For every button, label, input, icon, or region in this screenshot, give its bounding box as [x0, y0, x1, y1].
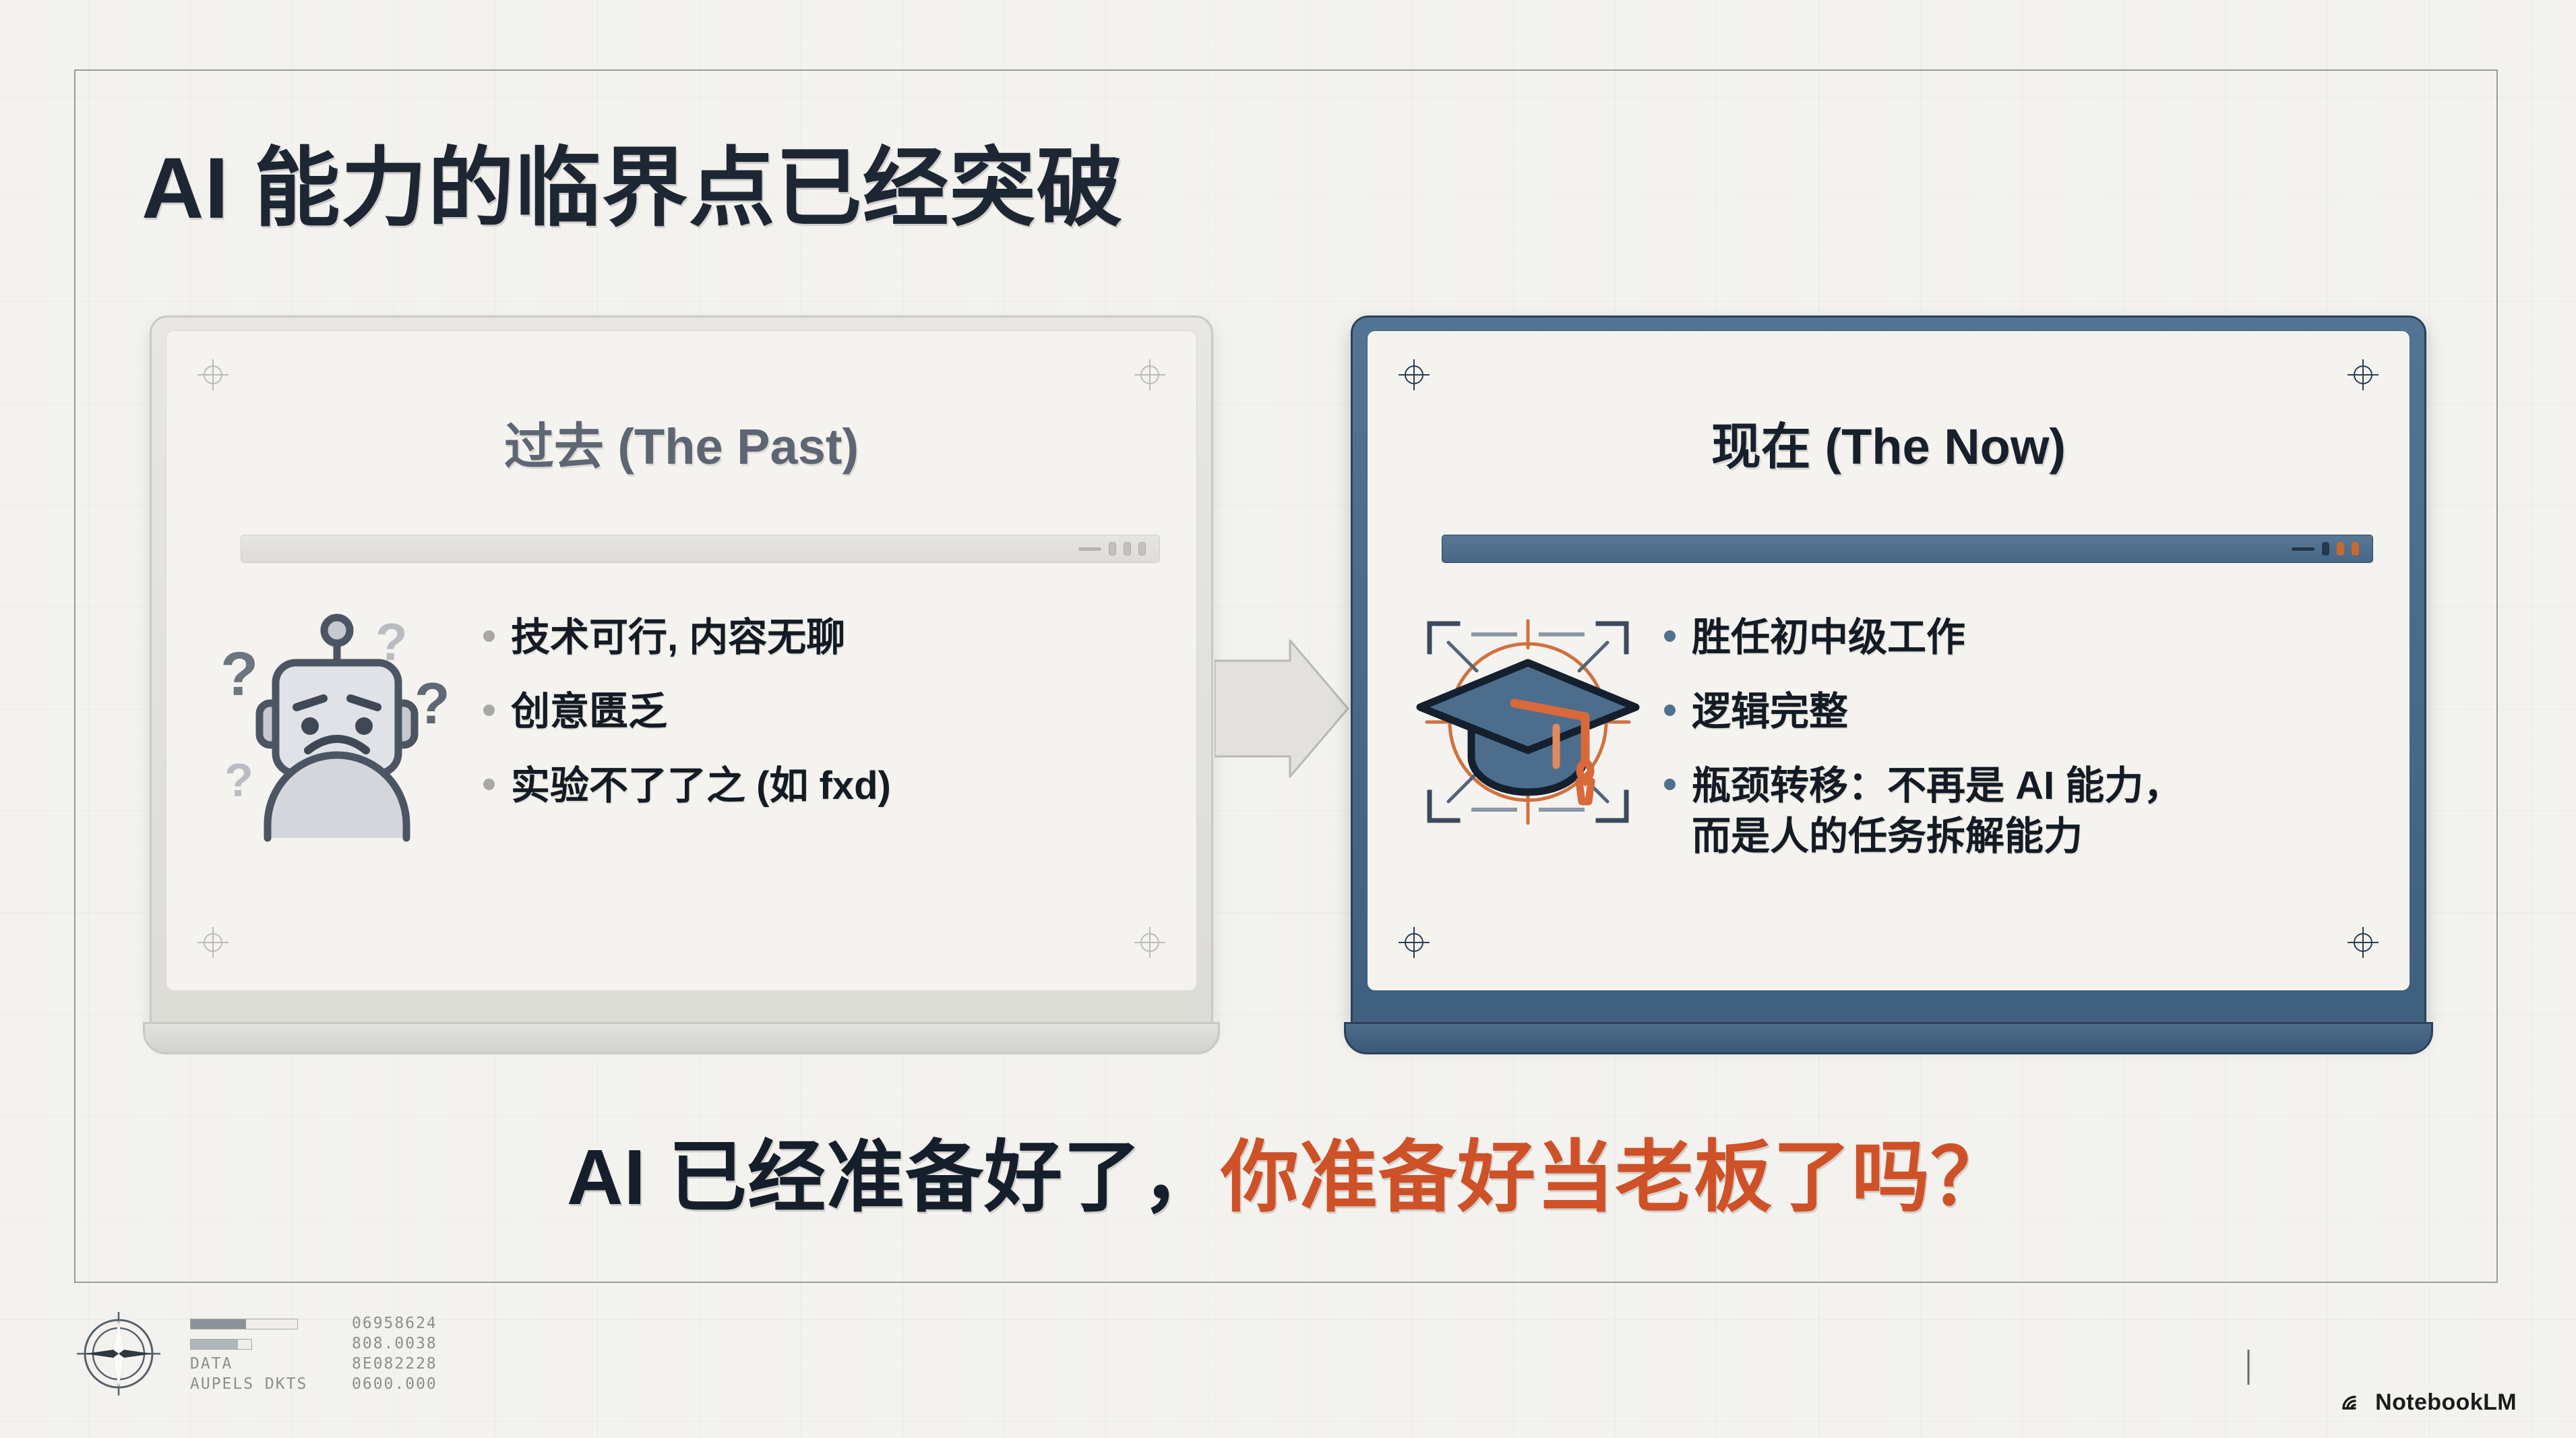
bullet-text: 逻辑完整 — [1692, 687, 1848, 737]
bullet-text: 瓶颈转移：不再是 AI 能力， 而是人的任务拆解能力 — [1692, 761, 2182, 861]
confused-robot-icon: ? ? ? ? — [206, 601, 468, 843]
browser-toolbar — [1442, 535, 2373, 563]
bullet-list-now: 胜任初中级工作 逻辑完整 瓶颈转移：不再是 AI 能力， 而是人的任务拆解能力 — [1664, 601, 2374, 862]
notebooklm-branding: NotebookLM — [2339, 1387, 2517, 1418]
decorative-rule-marks — [2116, 1350, 2359, 1397]
toolbar-control-icon — [1124, 542, 1131, 556]
toolbar-menu-icon — [2292, 547, 2314, 551]
telemetry-bar — [190, 1335, 352, 1352]
list-item: 技术可行, 内容无聊 — [483, 613, 1161, 663]
telemetry-value: 808.0038 — [352, 1335, 437, 1352]
card-base-lip — [1344, 1022, 2433, 1054]
bullet-text: 创意匮乏 — [511, 687, 667, 737]
bullet-dot-icon — [1664, 630, 1676, 642]
graduation-cap-target-icon — [1407, 601, 1649, 843]
card-screen: 过去 (The Past) — [166, 330, 1197, 991]
list-item: 创意匮乏 — [483, 687, 1161, 737]
telemetry-row: 06958624 — [190, 1313, 437, 1334]
svg-text:?: ? — [375, 612, 408, 671]
telemetry-bar — [190, 1315, 352, 1332]
list-item: 实验不了了之 (如 fxd) — [483, 761, 1161, 811]
telemetry-value: 0600.000 — [352, 1375, 437, 1393]
right-arrow-icon — [1215, 638, 1349, 779]
card-title-past: 过去 (The Past) — [166, 407, 1196, 479]
bullet-text: 胜任初中级工作 — [1692, 613, 1965, 663]
registration-mark-icon — [2348, 359, 2379, 390]
tagline-accent: 你准备好当老板了吗？ — [1221, 1133, 2009, 1221]
bullet-dot-icon — [483, 630, 495, 642]
card-the-past: 过去 (The Past) — [150, 316, 1213, 1038]
toolbar-control-icon — [1109, 542, 1116, 556]
closing-tagline: AI 已经准备好了，你准备好当老板了吗？ — [0, 1114, 2576, 1227]
list-item: 瓶颈转移：不再是 AI 能力， 而是人的任务拆解能力 — [1664, 761, 2374, 861]
list-item: 胜任初中级工作 — [1664, 613, 2374, 663]
telemetry-value: 06958624 — [352, 1315, 437, 1332]
card-screen: 现在 (The Now) — [1367, 330, 2410, 991]
registration-mark-icon — [1399, 359, 1430, 390]
card-body-past: ? ? ? ? 技术可行, 内容无聊 — [206, 601, 1161, 936]
toolbar-menu-icon — [1078, 547, 1101, 551]
bullet-dot-icon — [483, 705, 495, 716]
toolbar-control-icon — [2352, 542, 2359, 556]
compass-rose-icon — [73, 1308, 164, 1400]
telemetry-label: AUPELS DKTS — [190, 1375, 352, 1393]
telemetry-label: DATA — [190, 1355, 352, 1373]
toolbar-control-icon — [2337, 542, 2344, 556]
telemetry-row: DATA 8E082228 — [190, 1354, 437, 1374]
browser-toolbar — [241, 535, 1160, 563]
card-the-now: 现在 (The Now) — [1351, 316, 2426, 1038]
toolbar-control-icon — [1138, 542, 1146, 556]
telemetry-row: 808.0038 — [190, 1334, 437, 1354]
card-title-now: 现在 (The Now) — [1368, 407, 2410, 479]
tagline-lead: AI 已经准备好了， — [567, 1133, 1221, 1221]
registration-mark-icon — [1134, 359, 1165, 390]
telemetry-value: 8E082228 — [352, 1355, 437, 1373]
telemetry-rows: 06958624 808.0038 DATA 8E082228 AUPELS D… — [190, 1313, 437, 1394]
bullet-dot-icon — [1664, 779, 1676, 790]
card-base-lip — [143, 1022, 1220, 1054]
bullet-dot-icon — [1664, 705, 1676, 716]
page-title: AI 能力的临界点已经突破 — [142, 118, 1124, 243]
registration-mark-icon — [197, 359, 228, 390]
list-item: 逻辑完整 — [1664, 687, 2374, 737]
telemetry-row: AUPELS DKTS 0600.000 — [190, 1374, 437, 1394]
svg-text:?: ? — [415, 671, 450, 736]
notebooklm-icon — [2339, 1387, 2366, 1418]
bullet-list-past: 技术可行, 内容无聊 创意匮乏 实验不了了之 (如 fxd) — [483, 601, 1161, 812]
bullet-dot-icon — [483, 779, 495, 790]
bullet-text: 实验不了了之 (如 fxd) — [511, 761, 891, 811]
toolbar-control-icon — [2322, 542, 2329, 556]
notebooklm-label: NotebookLM — [2375, 1389, 2517, 1416]
bullet-text: 技术可行, 内容无聊 — [511, 613, 845, 663]
svg-text:?: ? — [220, 640, 258, 709]
card-body-now: 胜任初中级工作 逻辑完整 瓶颈转移：不再是 AI 能力， 而是人的任务拆解能力 — [1407, 601, 2374, 936]
svg-text:?: ? — [224, 754, 253, 806]
telemetry-block: 06958624 808.0038 DATA 8E082228 AUPELS D… — [73, 1308, 437, 1400]
